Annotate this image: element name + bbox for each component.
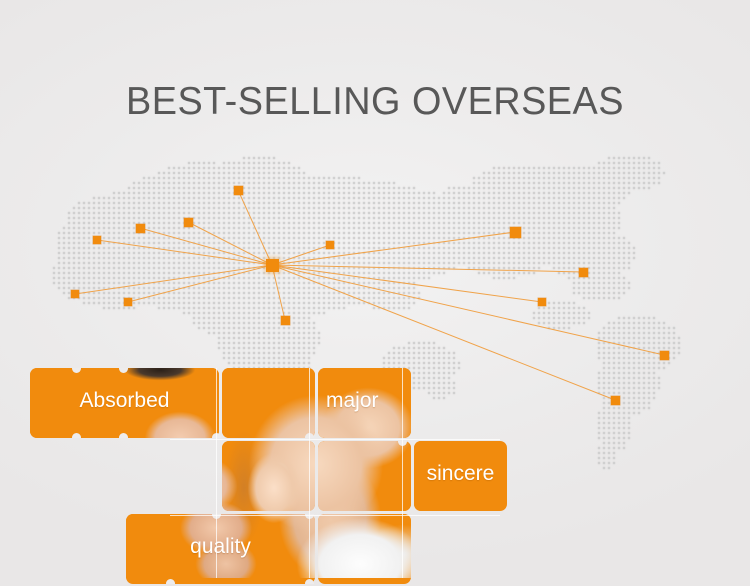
promo-banner: BEST-SELLING OVERSEAS Absorbedmajorsince… [0, 0, 750, 586]
marker-brazil [660, 351, 669, 360]
hub-marker [266, 259, 279, 272]
puzzle-knob [72, 433, 81, 438]
marker-north-america [510, 227, 521, 238]
page-title: BEST-SELLING OVERSEAS [11, 80, 739, 124]
puzzle-tile-photo [222, 441, 315, 511]
puzzle-knob [212, 433, 221, 438]
puzzle-tile-photo [318, 514, 411, 584]
puzzle-tile-quality: quality [126, 514, 315, 584]
puzzle-tile-label: quality [126, 535, 315, 559]
puzzle-tile-photo [222, 368, 315, 438]
puzzle-tile-sincere: sincere [414, 441, 507, 511]
marker-middle-east [124, 298, 132, 306]
handshake-photo [222, 368, 315, 438]
puzzle-tile-major: major [318, 368, 411, 438]
handshake-photo [318, 514, 411, 578]
puzzle-tile-grid: Absorbedmajorsincerequality [30, 368, 495, 578]
marker-west-europe [184, 218, 193, 227]
marker-mediterranean [71, 290, 79, 298]
puzzle-tile-label: sincere [414, 462, 507, 486]
marker-africa [281, 316, 290, 325]
puzzle-knob [166, 579, 175, 584]
marker-us-east [579, 268, 588, 277]
puzzle-knob [305, 433, 314, 438]
marker-north-europe [234, 186, 243, 195]
marker-east-europe [136, 224, 145, 233]
puzzle-tile-label: major [326, 389, 379, 413]
marker-central-america [538, 298, 546, 306]
marker-central-asia [93, 236, 101, 244]
puzzle-tile-label: Absorbed [30, 389, 219, 413]
handshake-photo [222, 441, 315, 511]
puzzle-knob [119, 433, 128, 438]
handshake-photo [318, 441, 411, 511]
puzzle-tile-absorbed: Absorbed [30, 368, 219, 438]
puzzle-tile-photo [318, 441, 411, 511]
puzzle-knob [305, 579, 314, 584]
marker-south-america [611, 396, 620, 405]
marker-southeast-asia [326, 241, 334, 249]
